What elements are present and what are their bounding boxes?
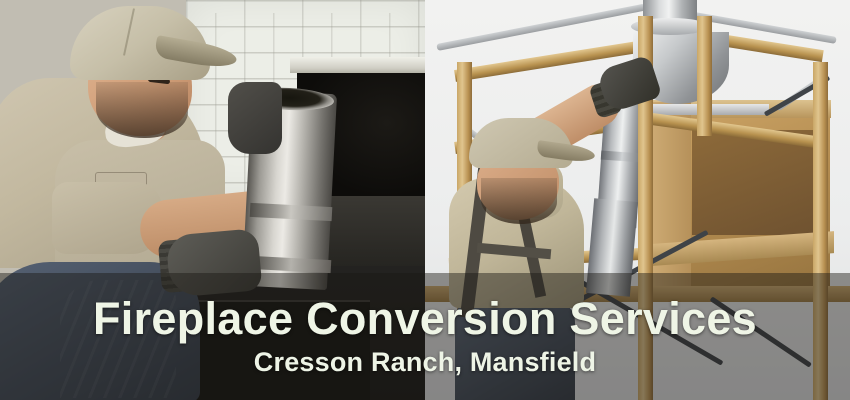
technician-beard: [96, 82, 188, 138]
scaffold-pole-center-upper: [697, 16, 712, 136]
banner-title: Fireplace Conversion Services: [93, 295, 757, 342]
mantel-lintel: [290, 57, 425, 73]
worker-beard: [481, 178, 557, 224]
hero-banner: Fireplace Conversion Services Cresson Ra…: [0, 0, 850, 400]
caption-block: Fireplace Conversion Services Cresson Ra…: [0, 273, 850, 400]
banner-subtitle: Cresson Ranch, Mansfield: [254, 348, 596, 378]
work-glove-upper: [228, 82, 282, 154]
